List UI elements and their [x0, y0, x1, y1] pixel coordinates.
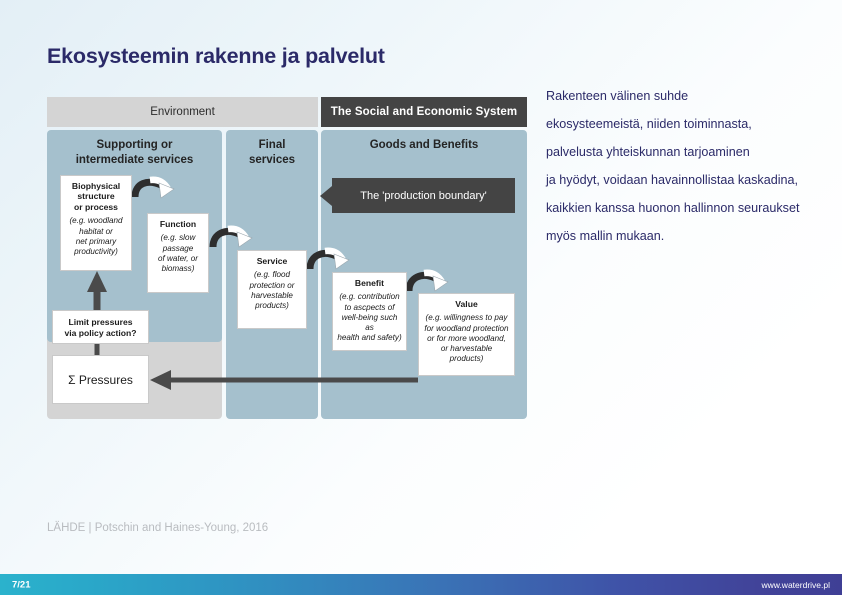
node-value-example: (e.g. willingness to pay for woodland pr…: [423, 313, 510, 364]
column-goods-heading: Goods and Benefits: [321, 138, 527, 153]
node-value: Value (e.g. willingness to pay for woodl…: [418, 293, 515, 376]
node-biophysical-title-line3: or process: [74, 202, 118, 212]
node-sum-pressures: Σ Pressures: [52, 355, 149, 404]
node-function-ex-line1: (e.g. slow: [161, 233, 196, 242]
production-boundary-label: The 'production boundary': [360, 190, 487, 202]
column-goods-line1: Goods and Benefits: [321, 138, 527, 153]
node-biophysical-structure: Biophysical structure or process (e.g. w…: [60, 175, 132, 271]
description-line-4: ja hyödyt, voidaan havainnollistaa kaska…: [546, 174, 836, 187]
band-social-economic-label: The Social and Economic System: [331, 106, 517, 118]
node-service-example: (e.g. flood protection or harvestable pr…: [242, 270, 302, 311]
node-benefit-example: (e.g. contribution to ascpects of well-b…: [337, 292, 402, 343]
node-service-ex-line1: (e.g. flood: [254, 270, 290, 279]
column-final-line1: Final: [226, 138, 318, 153]
node-function-title: Function: [152, 219, 204, 229]
node-value-ex-line1: (e.g. willingness to pay: [426, 313, 508, 322]
node-biophysical-ex-line4: productivity): [74, 247, 118, 256]
node-value-title: Value: [423, 299, 510, 309]
column-supporting-services-heading: Supporting or intermediate services: [47, 138, 222, 167]
node-value-ex-line3: or for more woodland,: [427, 334, 506, 343]
node-biophysical-ex-line1: (e.g. woodland: [69, 216, 122, 225]
node-biophysical-title-line1: Biophysical: [72, 181, 120, 191]
band-environment-label: Environment: [150, 106, 215, 118]
column-supporting-line1: Supporting or: [47, 138, 222, 153]
node-sum-pressures-title: Σ Pressures: [68, 373, 133, 388]
node-biophysical-example: (e.g. woodland habitat or net primary pr…: [65, 216, 127, 257]
description-line-6: myös mallin mukaan.: [546, 230, 836, 243]
node-biophysical-ex-line2: habitat or: [79, 227, 113, 236]
cascade-diagram: Environment The Social and Economic Syst…: [47, 97, 527, 419]
node-service-ex-line2: protection or: [250, 281, 295, 290]
page-title: Ekosysteemin rakenne ja palvelut: [47, 44, 385, 69]
node-limit-pressures: Limit pressures via policy action?: [52, 310, 149, 344]
node-biophysical-title: Biophysical structure or process: [65, 181, 127, 212]
column-final-line2: services: [226, 153, 318, 168]
node-function-ex-line3: of water, or: [158, 254, 198, 263]
description-line-3: palvelusta yhteiskunnan tarjoaminen: [546, 146, 836, 159]
column-final-services-heading: Final services: [226, 138, 318, 167]
node-function-example: (e.g. slow passage of water, or biomass): [152, 233, 204, 274]
node-benefit: Benefit (e.g. contribution to ascpects o…: [332, 272, 407, 351]
node-function: Function (e.g. slow passage of water, or…: [147, 213, 209, 293]
node-value-ex-line2: for woodland protection: [424, 324, 508, 333]
slide-canvas: Ekosysteemin rakenne ja palvelut Environ…: [0, 0, 842, 595]
node-limit-line2: via policy action?: [64, 328, 136, 338]
node-benefit-ex-line2: to ascpects of: [345, 303, 395, 312]
footer-bar: 7/21 www.waterdrive.pl: [0, 574, 842, 595]
node-service-title: Service: [242, 256, 302, 266]
column-supporting-line2: intermediate services: [47, 153, 222, 168]
description-line-1: Rakenteen välinen suhde: [546, 90, 836, 103]
node-function-ex-line4: biomass): [162, 264, 195, 273]
description-line-2: ekosysteemeistä, niiden toiminnasta,: [546, 118, 836, 131]
node-service: Service (e.g. flood protection or harves…: [237, 250, 307, 329]
footer-url[interactable]: www.waterdrive.pl: [762, 580, 831, 590]
node-benefit-ex-line4: health and safety): [337, 333, 401, 342]
production-boundary-callout: The 'production boundary': [332, 178, 515, 213]
node-benefit-ex-line1: (e.g. contribution: [339, 292, 399, 301]
node-service-ex-line4: products): [255, 301, 289, 310]
band-environment: Environment: [47, 97, 318, 127]
description-line-5: kaikkien kanssa huonon hallinnon seurauk…: [546, 202, 836, 215]
footer-page-number: 7/21: [12, 579, 31, 590]
description-text: Rakenteen välinen suhde ekosysteemeistä,…: [546, 90, 836, 243]
band-social-economic: The Social and Economic System: [321, 97, 527, 127]
node-value-ex-line4: or harvestable products): [441, 344, 492, 363]
node-biophysical-ex-line3: net primary: [76, 237, 116, 246]
node-limit-pressures-title: Limit pressures via policy action?: [64, 317, 136, 338]
source-credit: LÄHDE | Potschin and Haines-Young, 2016: [47, 522, 268, 534]
node-benefit-ex-line3: well-being such as: [342, 313, 398, 332]
node-biophysical-title-line2: structure: [77, 191, 114, 201]
node-service-ex-line3: harvestable: [251, 291, 293, 300]
node-benefit-title: Benefit: [337, 278, 402, 288]
node-function-ex-line2: passage: [163, 244, 194, 253]
node-limit-line1: Limit pressures: [69, 317, 133, 327]
